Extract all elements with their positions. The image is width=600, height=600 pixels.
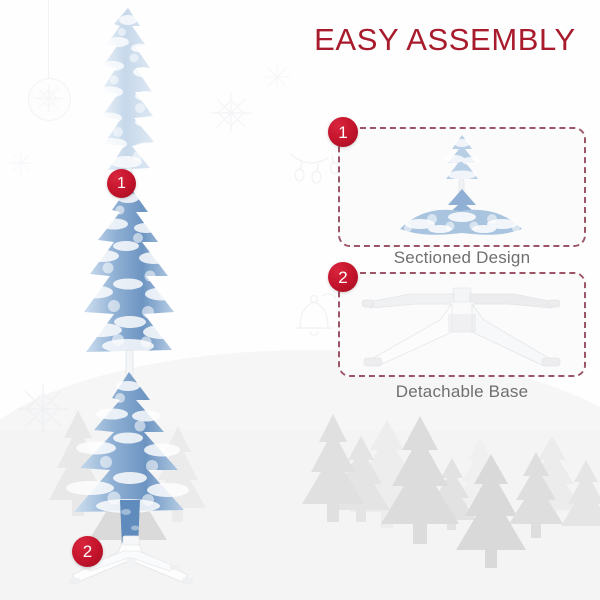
bell-icon: [288, 288, 340, 344]
tree-section-middle: [75, 186, 181, 376]
callout-badge-1: 1: [328, 117, 358, 147]
callout-2-artwork: [340, 274, 584, 375]
callout-1-artwork: [340, 129, 584, 245]
infographic-canvas: 1 2 EASY ASSEMBLY: [0, 0, 600, 600]
tree-marker-1: 1: [107, 169, 136, 198]
tree-section-bottom: [66, 372, 189, 546]
tree-marker-2: 2: [72, 536, 103, 567]
callout-badge-2: 2: [328, 262, 358, 292]
callout-caption-2: Detachable Base: [338, 382, 586, 402]
callout-panel-2: [338, 272, 586, 377]
product-tree-image: [22, 0, 282, 600]
page-title: EASY ASSEMBLY: [300, 22, 590, 58]
callout-panel-1: [338, 127, 586, 247]
callout-caption-1: Sectioned Design: [338, 248, 586, 268]
tree-section-top: [94, 8, 159, 190]
